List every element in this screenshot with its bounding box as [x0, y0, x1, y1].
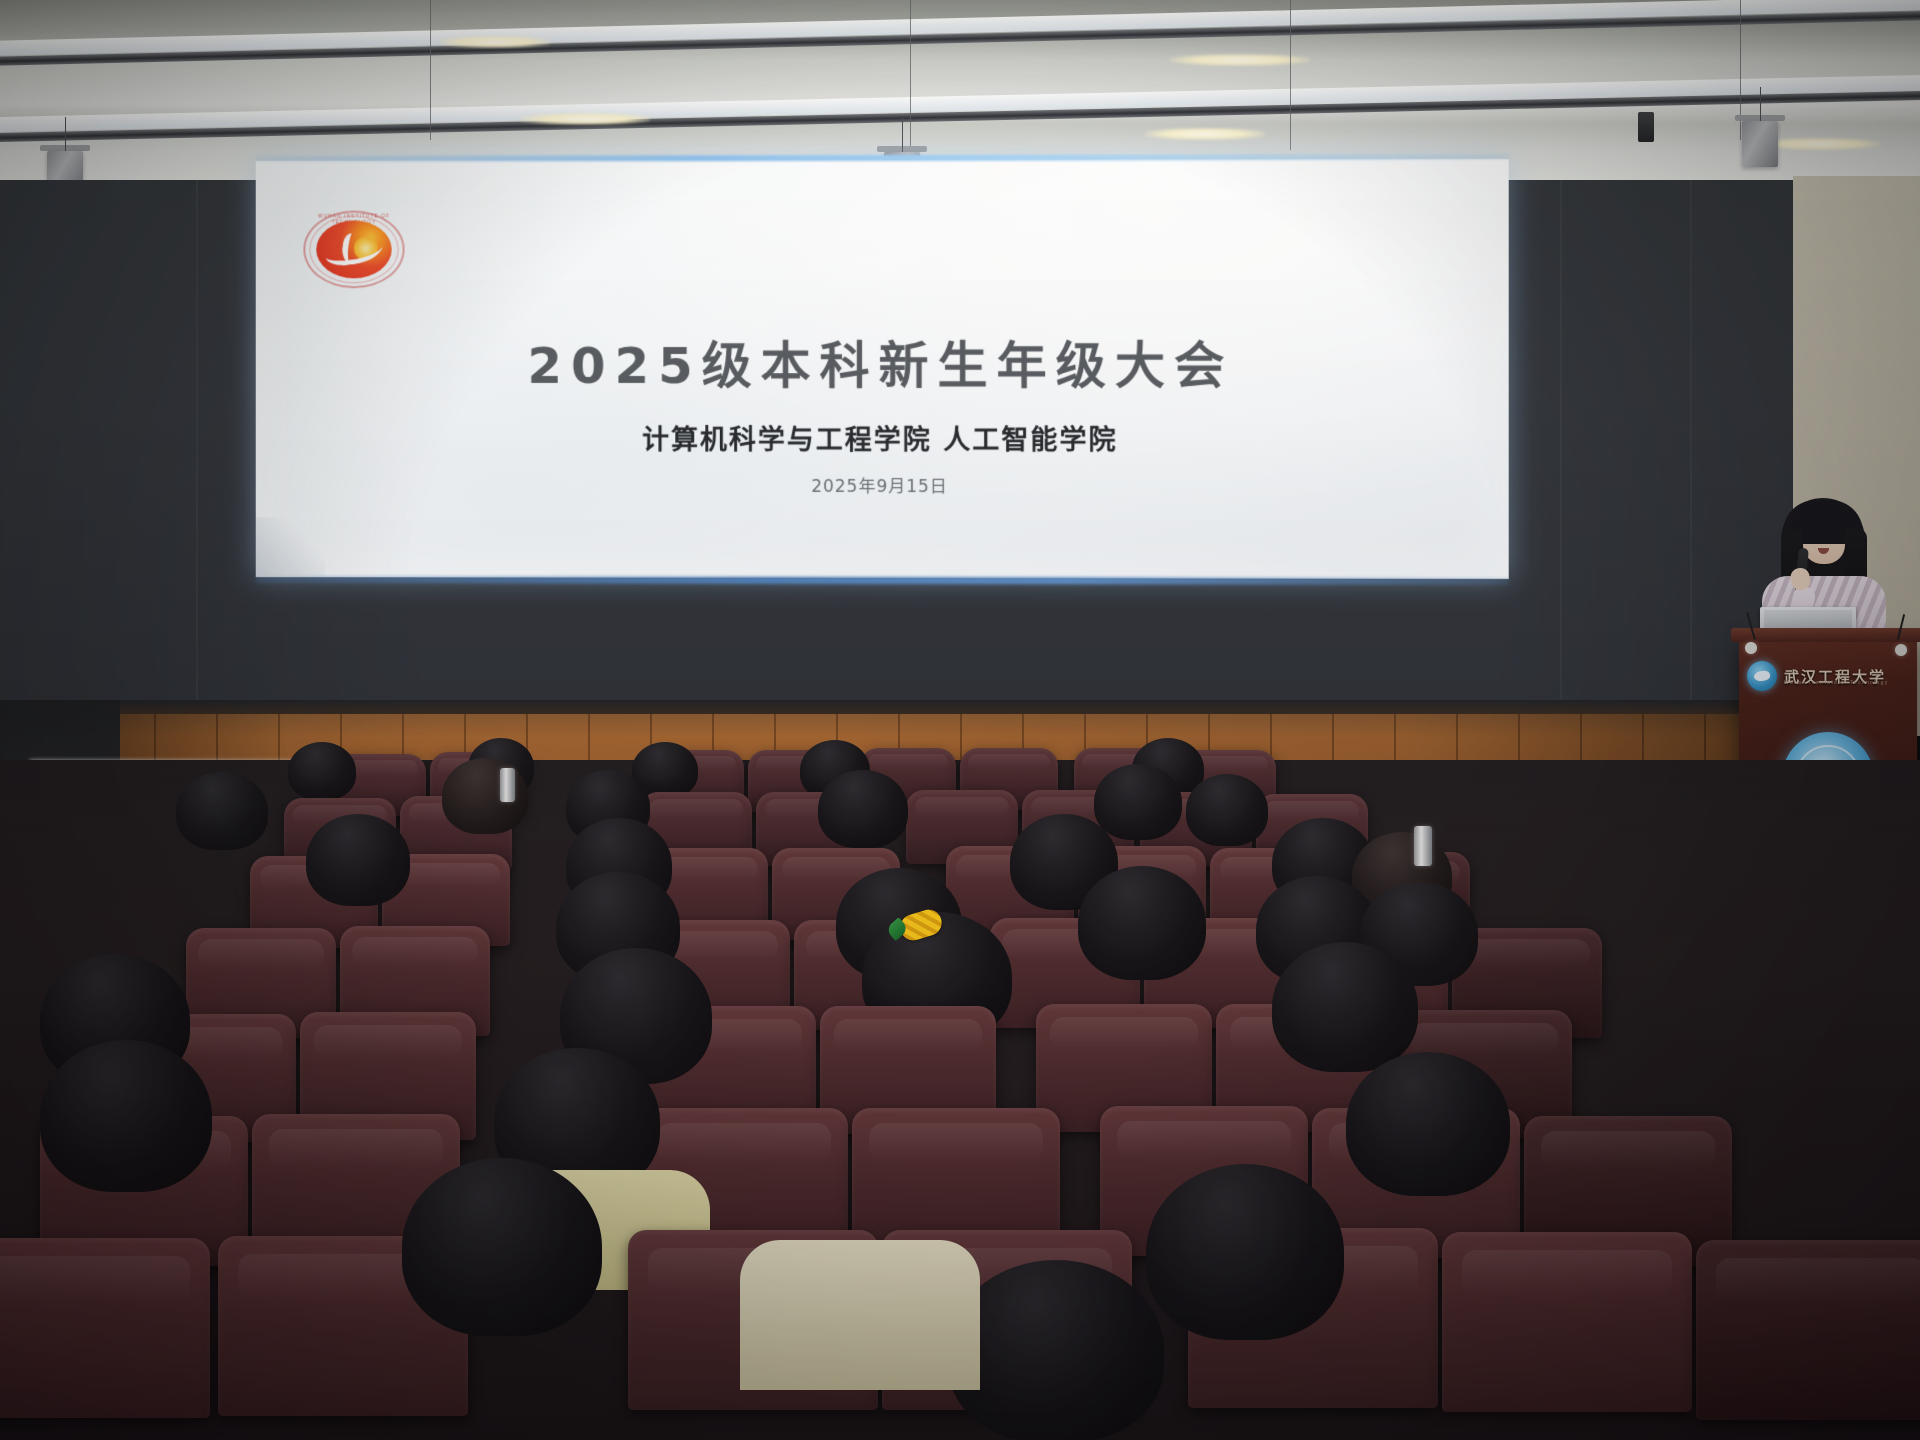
ceiling-lamp-1	[440, 36, 550, 48]
screen-top-edge	[256, 154, 1509, 162]
audience-head	[948, 1260, 1164, 1440]
audience-head	[306, 814, 410, 906]
auditorium-scene: WUHAN INSTITUTE OF TECHNOLOGY 2025级本科新生年…	[0, 0, 1920, 1440]
ceiling-vent-3	[1742, 121, 1778, 167]
ceiling-wire-2	[910, 0, 911, 150]
audience-house	[0, 760, 1920, 1440]
projection-screen: WUHAN INSTITUTE OF TECHNOLOGY 2025级本科新生年…	[256, 159, 1509, 579]
lectern-mic-right	[1895, 644, 1907, 656]
university-emblem-icon: WUHAN INSTITUTE OF TECHNOLOGY	[303, 211, 404, 289]
audience-shoulders	[740, 1240, 980, 1390]
audience-head	[1186, 774, 1268, 846]
audience-head	[40, 1040, 212, 1192]
audience-head	[176, 772, 268, 850]
lectern-top-edge	[1731, 628, 1920, 642]
ceiling-light-strip-1	[0, 0, 1920, 57]
ceiling-lamp-3	[520, 113, 650, 125]
seat	[0, 1238, 210, 1418]
lectern-university-name-en: Wuhan Institute of Technology	[1784, 680, 1889, 686]
slide-title: 2025级本科新生年级大会	[256, 326, 1509, 398]
slide-date: 2025年9月15日	[256, 472, 1509, 498]
audience-head	[1094, 764, 1182, 840]
university-seal-icon	[1747, 661, 1777, 691]
audience-head	[288, 742, 356, 800]
audience-head	[1346, 1052, 1510, 1196]
ceiling-lamp-2	[1170, 54, 1310, 66]
seat	[1442, 1232, 1692, 1412]
audience-head	[1146, 1164, 1344, 1340]
ceiling-speaker-icon	[1638, 112, 1654, 142]
ceiling-lamp-4	[1145, 128, 1265, 140]
ceiling-wire-3	[1290, 0, 1291, 150]
screen-surface: WUHAN INSTITUTE OF TECHNOLOGY 2025级本科新生年…	[256, 159, 1509, 579]
seat	[1696, 1240, 1920, 1420]
ceiling-lamp-5	[1760, 138, 1880, 150]
audience-head	[442, 758, 528, 834]
water-bottle	[500, 768, 515, 802]
audience-head	[402, 1158, 602, 1336]
audience-head	[818, 770, 908, 848]
screen-corner-shadow	[256, 517, 325, 577]
ceiling-wire-1	[430, 0, 431, 140]
audience-head	[1078, 866, 1206, 980]
water-bottle	[1414, 826, 1432, 866]
slide-subtitle: 计算机科学与工程学院 人工智能学院	[256, 418, 1509, 458]
audience-head	[1272, 942, 1418, 1072]
lectern-mic-left	[1745, 642, 1757, 654]
lectern-nameplate: 武汉工程大学	[1747, 654, 1909, 698]
